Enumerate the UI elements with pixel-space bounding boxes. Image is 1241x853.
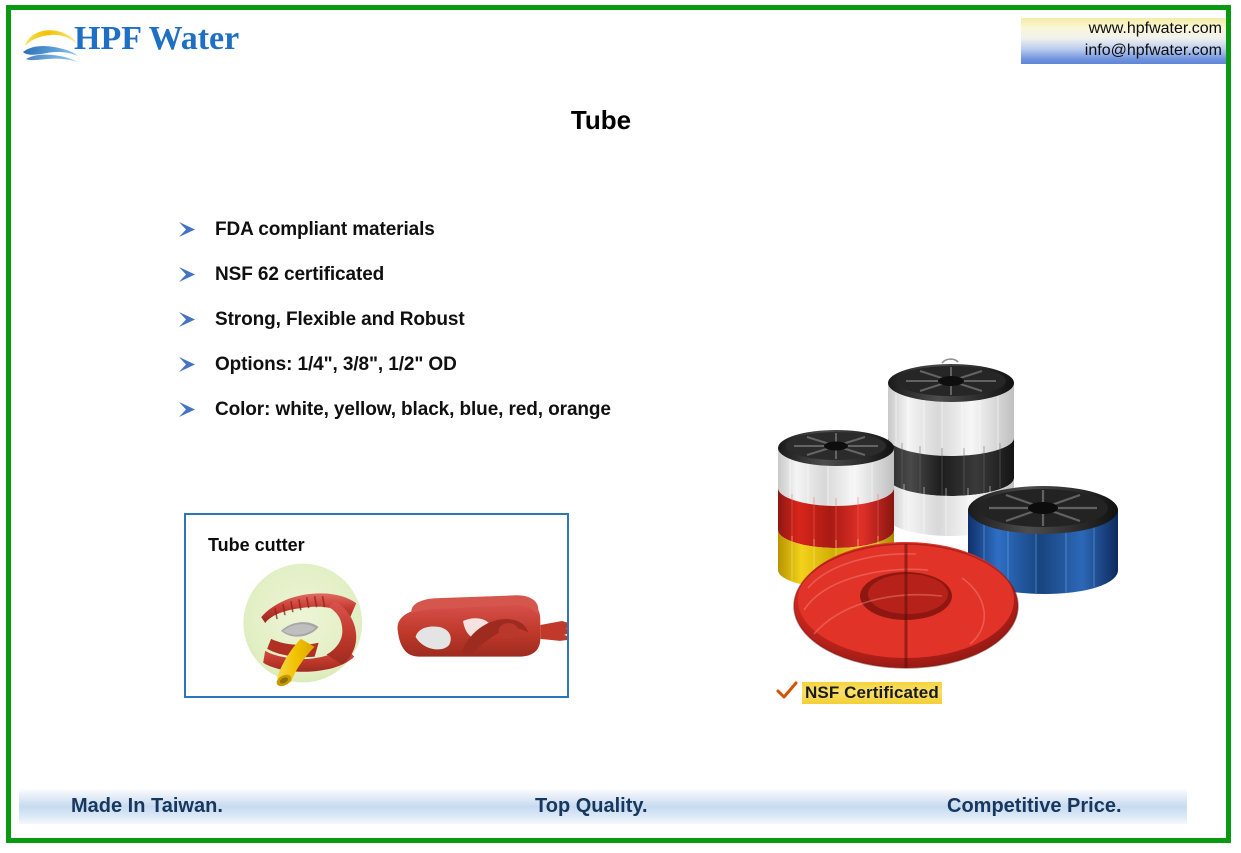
feature-label: Options: 1/4", 3/8", 1/2" OD [215,353,457,377]
contact-info-box: www.hpfwater.com info@hpfwater.com [1021,18,1226,64]
footer-made-in-taiwan: Made In Taiwan. [71,795,223,818]
chevron-arrow-bullet-icon [177,308,215,335]
chevron-arrow-bullet-icon [177,218,215,245]
footer-top-quality: Top Quality. [535,795,648,818]
chevron-arrow-bullet-icon [177,263,215,290]
footer-competitive-price: Competitive Price. [947,795,1122,818]
sun-and-waves-logo-icon [21,25,79,65]
website-link[interactable]: www.hpfwater.com [1021,18,1222,40]
brand-logo: HPF Water [21,20,261,68]
feature-list: FDA compliant materials NSF 62 certifica… [177,218,777,443]
slide-frame: HPF Water www.hpfwater.com info@hpfwater… [6,5,1231,843]
brand-name: HPF Water [74,20,239,58]
list-item: Strong, Flexible and Robust [177,308,777,353]
list-item: FDA compliant materials [177,218,777,263]
feature-label: FDA compliant materials [215,218,435,242]
chevron-arrow-bullet-icon [177,353,215,380]
list-item: Options: 1/4", 3/8", 1/2" OD [177,353,777,398]
tube-cutter-illustration [186,551,567,697]
feature-label: Strong, Flexible and Robust [215,308,465,332]
email-link[interactable]: info@hpfwater.com [1021,40,1222,62]
nsf-certification-badge: NSF Certificated [776,678,942,708]
nsf-certification-label: NSF Certificated [802,682,942,704]
page-title: Tube [11,105,1191,136]
tube-spools-photo [756,338,1121,678]
check-mark-icon [776,681,802,706]
chevron-arrow-bullet-icon [177,398,215,425]
tube-cutter-panel: Tube cutter [184,513,569,698]
footer-banner: Made In Taiwan. Top Quality. Competitive… [19,788,1187,824]
coil-red-front [794,542,1018,668]
feature-label: Color: white, yellow, black, blue, red, … [215,398,611,422]
list-item: Color: white, yellow, black, blue, red, … [177,398,777,443]
list-item: NSF 62 certificated [177,263,777,308]
feature-label: NSF 62 certificated [215,263,384,287]
